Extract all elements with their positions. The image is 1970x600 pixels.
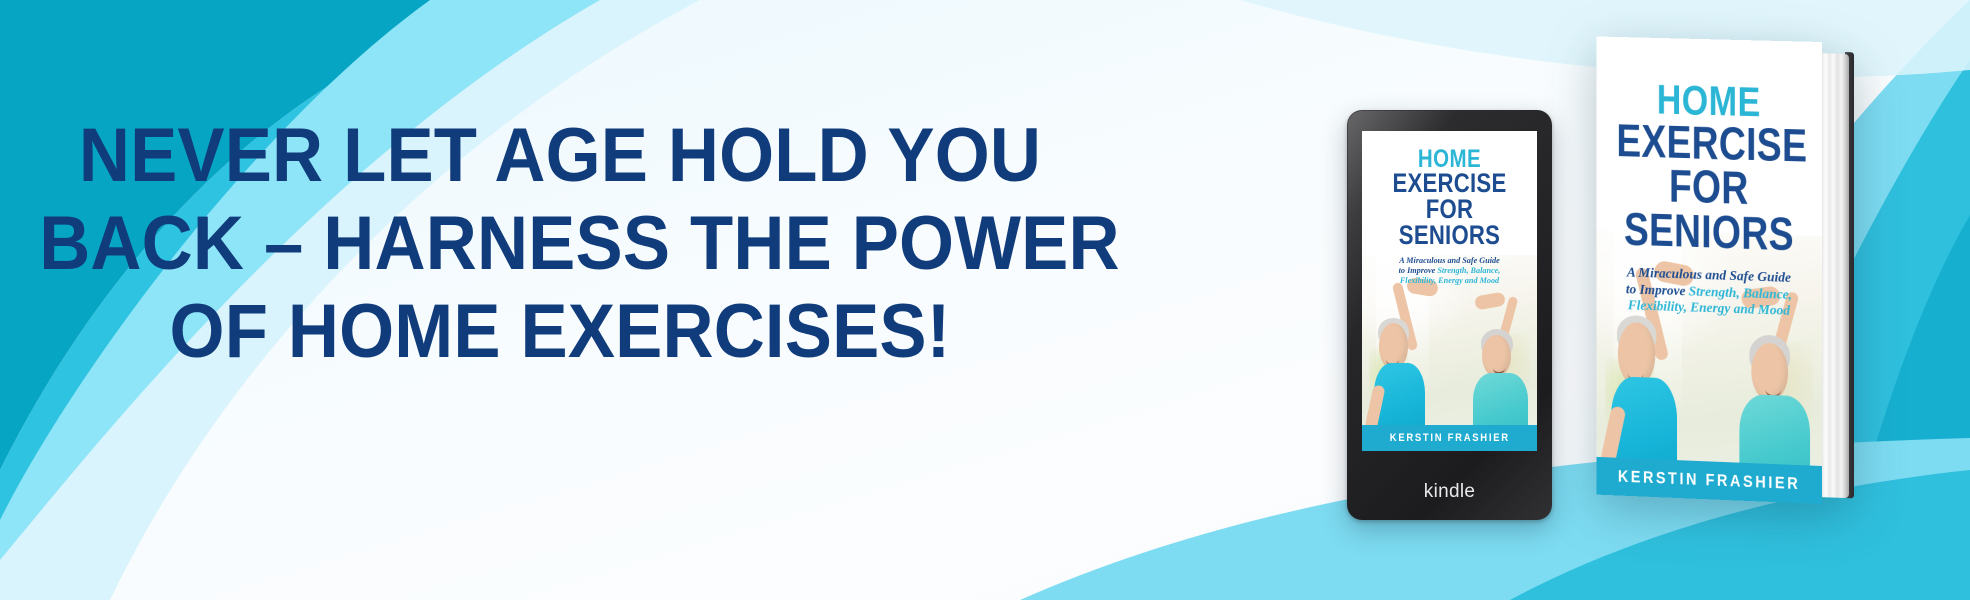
headline: NEVER LET AGE HOLD YOU BACK – HARNESS TH…: [0, 118, 1120, 370]
cover-author-name: KERSTIN FRASHIER: [1618, 467, 1800, 494]
kindle-cover-text-block: HOME EXERCISE FOR SENIORS A Miraculous a…: [1362, 131, 1537, 286]
cover-title-for-seniors: FOR SENIORS: [1616, 162, 1801, 256]
book-cover-text-block: HOME EXERCISE FOR SENIORS A Miraculous a…: [1596, 36, 1822, 321]
cover-subtitle-line-2a: to Improve: [1626, 281, 1689, 298]
kindle-cover-subtitle-line-2a: to Improve: [1399, 266, 1438, 275]
kindle-cover-subtitle: A Miraculous and Safe Guide to Improve S…: [1362, 256, 1537, 287]
kindle-cover-author-band: KERSTIN FRASHIER: [1362, 425, 1537, 451]
kindle-cover-subtitle-line-3: Flexibility, Energy and Mood: [1400, 276, 1499, 285]
kindle-cover-artwork: HOME EXERCISE FOR SENIORS A Miraculous a…: [1362, 131, 1537, 451]
headline-line-1: NEVER LET AGE HOLD YOU: [39, 118, 1081, 194]
kindle-screen: HOME EXERCISE FOR SENIORS A Miraculous a…: [1362, 131, 1537, 451]
book-cover-artwork: HOME EXERCISE FOR SENIORS A Miraculous a…: [1596, 36, 1822, 504]
kindle-cover-subtitle-line-1: A Miraculous and Safe Guide: [1399, 256, 1500, 265]
kindle-cover-author-name: KERSTIN FRASHIER: [1389, 432, 1509, 444]
kindle-wordmark: kindle: [1347, 481, 1552, 503]
cover-subtitle: A Miraculous and Safe Guide to Improve S…: [1596, 263, 1822, 321]
book-page-edge: [1819, 53, 1849, 498]
cover-author-band: KERSTIN FRASHIER: [1596, 457, 1822, 504]
kindle-ereader: HOME EXERCISE FOR SENIORS A Miraculous a…: [1347, 110, 1552, 520]
kindle-cover-subtitle-line-2b: Strength, Balance,: [1437, 266, 1500, 275]
kindle-cover-title-for-seniors: FOR SENIORS: [1378, 197, 1522, 249]
headline-line-3: OF HOME EXERCISES!: [39, 294, 1081, 370]
printed-book-3d: HOME EXERCISE FOR SENIORS A Miraculous a…: [1594, 42, 1862, 504]
headline-line-2: BACK – HARNESS THE POWER: [39, 206, 1081, 282]
promo-banner: NEVER LET AGE HOLD YOU BACK – HARNESS TH…: [0, 0, 1970, 600]
cover-subtitle-line-2b: Strength, Balance,: [1689, 283, 1792, 301]
book-front-cover: HOME EXERCISE FOR SENIORS A Miraculous a…: [1596, 36, 1822, 504]
